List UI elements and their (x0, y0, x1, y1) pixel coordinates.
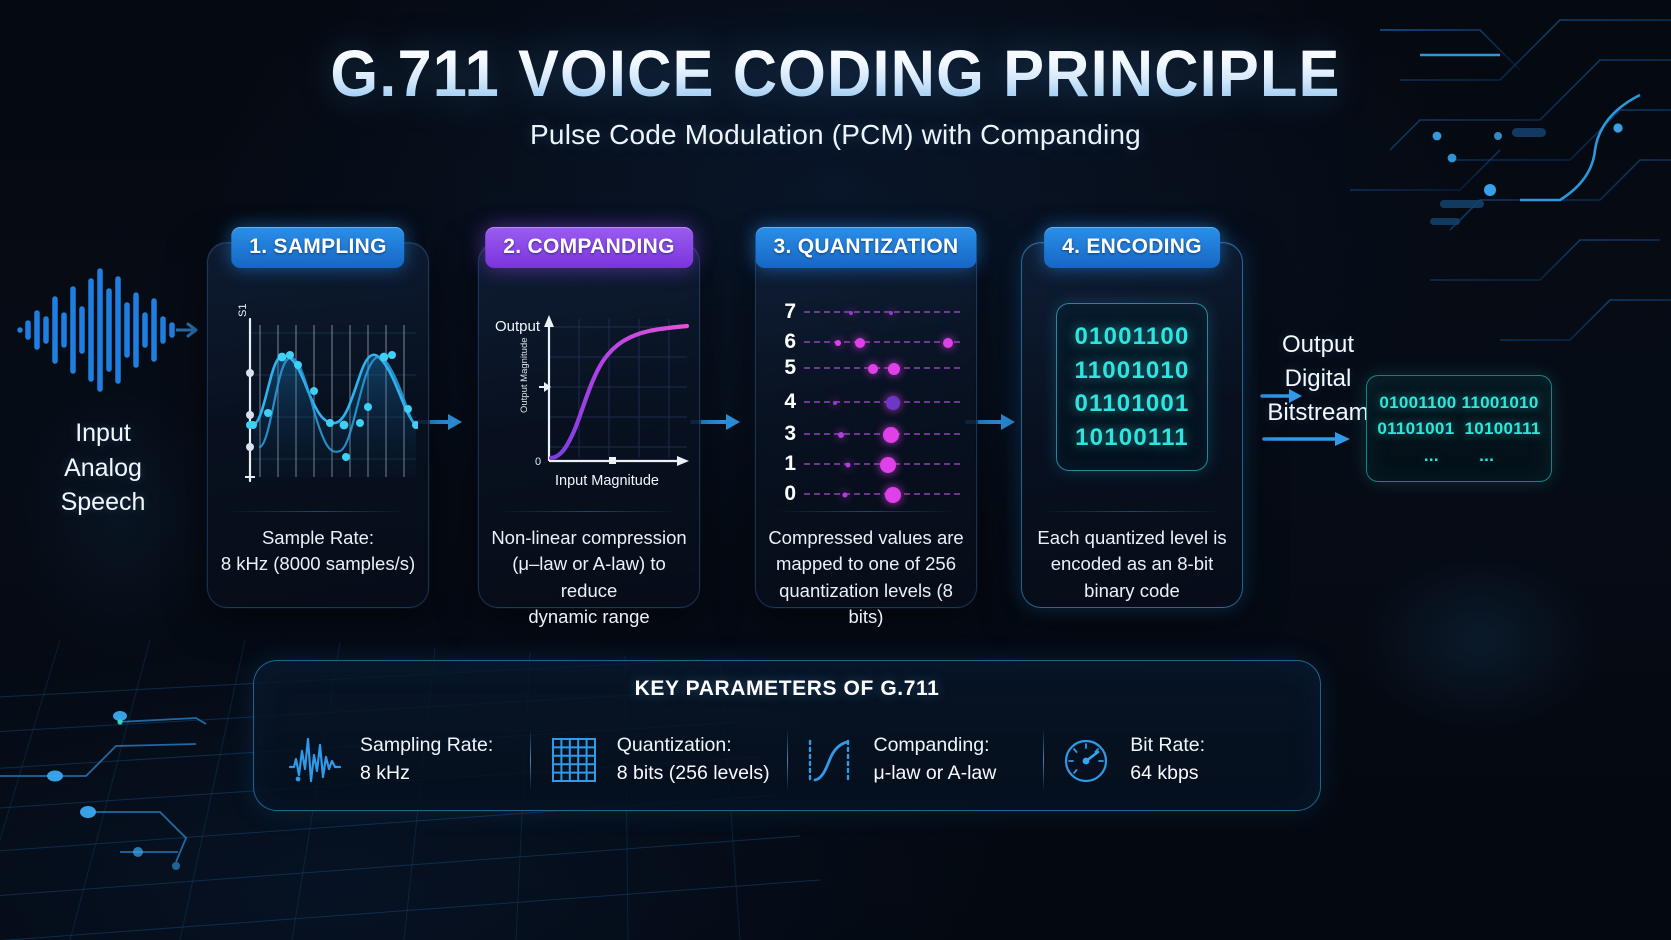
quantization-dot (868, 364, 878, 374)
input-source: InputAnalogSpeech (8, 265, 198, 520)
key-parameter-text: Sampling Rate: 8 kHz (360, 732, 493, 787)
key-parameter-label: Quantization: (617, 732, 770, 760)
sampling-waveform-chart: S1 (220, 295, 418, 503)
page-subtitle: Pulse Code Modulation (PCM) with Compand… (0, 119, 1671, 151)
key-parameters-title: KEY PARAMETERS OF G.711 (254, 677, 1320, 701)
quantization-level-line (804, 367, 960, 369)
companding-curve-chart: Output Output Magnitude Input Magnitude … (491, 295, 689, 503)
step-caption-companding: Non-linear compression(μ–law or A-law) t… (489, 525, 689, 630)
quantization-dot (842, 493, 847, 498)
key-parameter-label: Sampling Rate: (360, 732, 493, 760)
binary-code-box: 01001100 11001010 01101001 10100111 (1056, 303, 1208, 471)
quantization-dot (885, 487, 901, 503)
quantization-level-label: 1 (768, 452, 796, 476)
quantization-level-line (804, 433, 960, 435)
output-label: OutputDigitalBitstream (1258, 328, 1378, 430)
quantization-level-label: 5 (768, 356, 796, 380)
quantization-dot (889, 311, 893, 315)
quantization-dot (833, 401, 837, 405)
key-parameter-value: 8 kHz (360, 760, 493, 788)
quantization-row: 4 (768, 391, 960, 413)
card-divider (776, 511, 956, 512)
key-parameter-text: Companding: μ-law or A-law (874, 732, 997, 787)
quantization-dot (835, 340, 841, 346)
encoding-visual: 01001100 11001010 01101001 10100111 (1034, 295, 1230, 503)
key-parameters-row: Sampling Rate: 8 kHz (274, 719, 1300, 801)
quantization-dot (886, 396, 900, 410)
step-card-sampling[interactable]: 1. SAMPLING (207, 242, 429, 608)
quantization-row: 5 (768, 357, 960, 379)
key-parameter-sampling-rate: Sampling Rate: 8 kHz (274, 732, 530, 787)
card-divider (1042, 511, 1222, 512)
quantization-dot (888, 363, 900, 375)
binary-line: 01001100 (1063, 320, 1201, 354)
binary-line: 10100111 (1063, 421, 1201, 455)
quantization-dot (849, 311, 853, 315)
quantization-dot (880, 457, 896, 473)
card-divider (228, 511, 408, 512)
quantization-row: 0 (768, 483, 960, 505)
quantization-chart: 7 6 5 (768, 295, 964, 503)
step-card-quantization[interactable]: 3. QUANTIZATION 7 6 (755, 242, 977, 608)
binary-line: 01101001 (1063, 387, 1201, 421)
waveform-icon (288, 735, 346, 785)
key-parameter-bit-rate: Bit Rate: 64 kbps (1044, 732, 1300, 787)
quantization-level-label: 4 (768, 390, 796, 414)
quantization-row: 1 (768, 453, 960, 475)
arrow-output-to-bitstream (1262, 428, 1354, 450)
bitstream-line: ... ... (1377, 443, 1541, 469)
output-bitstream-box: 01001100 11001010 01101001 10100111 ... … (1366, 375, 1552, 482)
input-source-label: InputAnalogSpeech (8, 416, 198, 520)
quantization-dot (883, 427, 899, 443)
step-card-encoding[interactable]: 4. ENCODING 01001100 11001010 01101001 1… (1021, 242, 1243, 608)
quantization-level-line (804, 401, 960, 403)
step-caption-encoding: Each quantized level isencoded as an 8-b… (1032, 525, 1232, 604)
step-card-companding[interactable]: 2. COMPANDING (478, 242, 700, 608)
key-parameter-companding: Companding: μ-law or A-law (788, 732, 1044, 787)
quantization-dot (855, 338, 865, 348)
svg-text:S1: S1 (237, 304, 249, 317)
step-caption-sampling: Sample Rate:8 kHz (8000 samples/s) (218, 525, 418, 578)
quantization-dot (845, 463, 850, 468)
quantization-level-label: 6 (768, 330, 796, 354)
companding-x-label: Input Magnitude (555, 473, 659, 489)
quantization-level-line (804, 311, 960, 313)
quantization-row: 7 (768, 301, 960, 323)
quantization-row: 6 (768, 331, 960, 353)
companding-y-label: Output (495, 318, 541, 335)
step-caption-quantization: Compressed values aremapped to one of 25… (766, 525, 966, 630)
step-badge-encoding: 4. ENCODING (1044, 227, 1220, 268)
key-parameter-value: μ-law or A-law (874, 760, 997, 788)
quantization-level-label: 7 (768, 300, 796, 324)
bitstream-line: 01001100 11001010 (1377, 390, 1541, 416)
key-parameter-value: 8 bits (256 levels) (617, 760, 770, 788)
quantization-dot (838, 432, 844, 438)
step-badge-quantization: 3. QUANTIZATION (756, 227, 977, 268)
quantization-dot (943, 338, 953, 348)
key-parameter-label: Bit Rate: (1130, 732, 1205, 760)
audio-waveform-icon (8, 265, 198, 395)
binary-line: 11001010 (1063, 354, 1201, 388)
companding-y-label-secondary: Output Magnitude (519, 337, 530, 413)
bitstream-line: 01101001 10100111 (1377, 416, 1541, 442)
quantization-levels-chart: 7 6 5 (768, 295, 964, 503)
step-badge-companding: 2. COMPANDING (485, 227, 693, 268)
gauge-icon (1058, 735, 1116, 785)
page-title: G.711 VOICE CODING PRINCIPLE (58, 40, 1612, 107)
key-parameter-value: 64 kbps (1130, 760, 1205, 788)
quantization-level-label: 0 (768, 482, 796, 506)
sampling-chart: S1 (220, 295, 416, 503)
svg-text:0: 0 (535, 456, 541, 468)
step-badge-sampling: 1. SAMPLING (231, 227, 404, 268)
quantization-row: 3 (768, 423, 960, 445)
infographic-canvas: G.711 VOICE CODING PRINCIPLE Pulse Code … (0, 0, 1671, 940)
key-parameter-text: Bit Rate: 64 kbps (1130, 732, 1205, 787)
key-parameter-label: Companding: (874, 732, 997, 760)
quantization-level-line (804, 341, 960, 343)
companding-chart: Output Output Magnitude Input Magnitude … (491, 295, 687, 503)
pipeline: InputAnalogSpeech 1. SAMPLING (0, 210, 1671, 610)
header: G.711 VOICE CODING PRINCIPLE Pulse Code … (0, 40, 1671, 151)
key-parameter-quantization: Quantization: 8 bits (256 levels) (531, 732, 787, 787)
quantization-level-line (804, 493, 960, 495)
grid-icon (545, 735, 603, 785)
quantization-level-line (804, 463, 960, 465)
curve-icon (802, 735, 860, 785)
quantization-level-label: 3 (768, 422, 796, 446)
key-parameters-panel: KEY PARAMETERS OF G.711 Sampling Rate: 8… (253, 660, 1321, 811)
card-divider (499, 511, 679, 512)
key-parameter-text: Quantization: 8 bits (256 levels) (617, 732, 770, 787)
